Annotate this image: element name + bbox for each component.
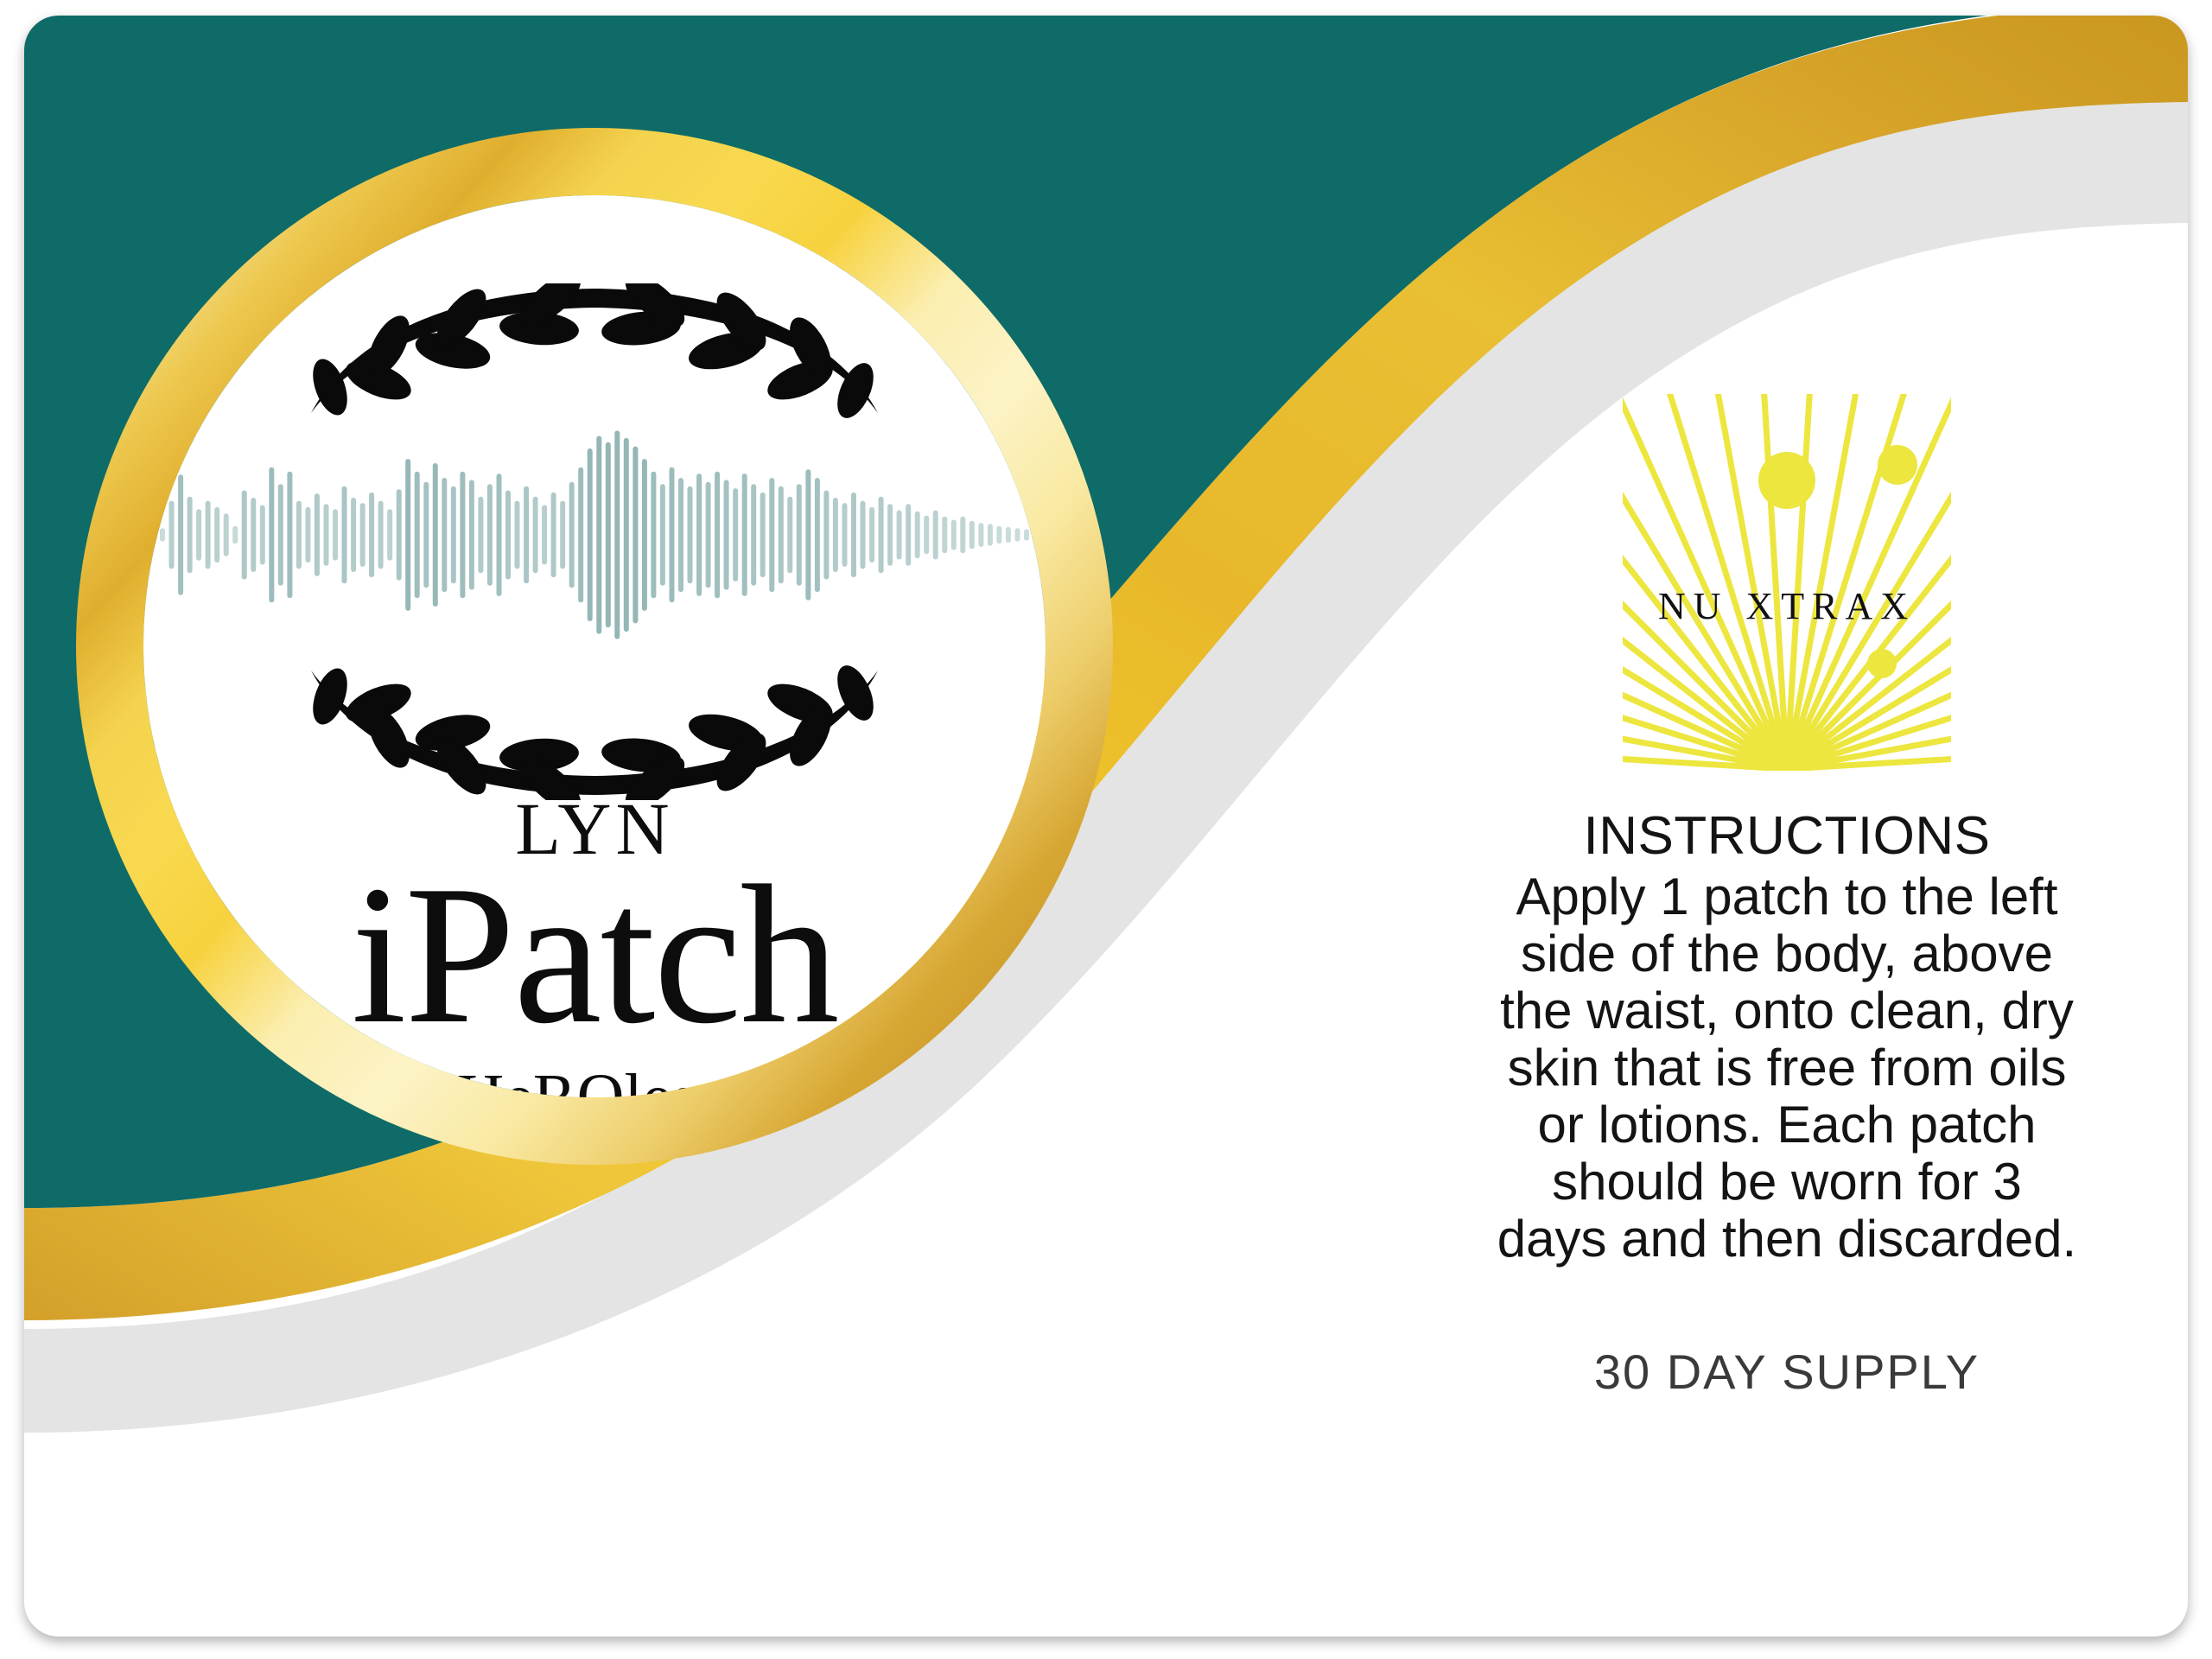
instructions-line: or lotions. Each patch <box>1457 1096 2117 1154</box>
instructions-text: Apply 1 patch to the leftside of the bod… <box>1441 868 2133 1268</box>
supply-badge: 30 DAY SUPPLY <box>1441 1344 2133 1400</box>
instructions-heading: INSTRUCTIONS <box>1441 805 2133 867</box>
laurel-branch-icon <box>292 653 897 800</box>
instructions-line: days and then discarded. <box>1457 1211 2117 1268</box>
badge-title-block: LYN iPatch iHeRQles + PlastiClear <box>143 791 1046 1097</box>
instructions-column: NU XTRAX INSTRUCTIONS Apply 1 patch to t… <box>1441 378 2133 1400</box>
company-name: NU XTRAX <box>1605 584 1968 628</box>
product-label-card: LYN iPatch iHeRQles + PlastiClear NU XTR… <box>24 16 2188 1637</box>
company-logo: NU XTRAX <box>1605 378 1968 793</box>
badge-inner-white-disc: LYN iPatch iHeRQles + PlastiClear <box>143 195 1046 1097</box>
product-badge-circle: LYN iPatch iHeRQles + PlastiClear <box>76 128 1113 1165</box>
laurel-branch-icon <box>292 283 897 430</box>
instructions-line: should be worn for 3 <box>1457 1154 2117 1211</box>
ingredient-line-1: iHeRQles + <box>143 1061 1046 1097</box>
instructions-line: the waist, onto clean, dry <box>1457 982 2117 1039</box>
audio-waveform-icon <box>152 427 1037 643</box>
product-name: iPatch <box>143 855 1046 1054</box>
instructions-line: skin that is free from oils <box>1457 1039 2117 1096</box>
instructions-line: Apply 1 patch to the left <box>1457 868 2117 925</box>
instructions-line: side of the body, above <box>1457 925 2117 982</box>
ingredient-list: iHeRQles + PlastiClear <box>143 1061 1046 1097</box>
